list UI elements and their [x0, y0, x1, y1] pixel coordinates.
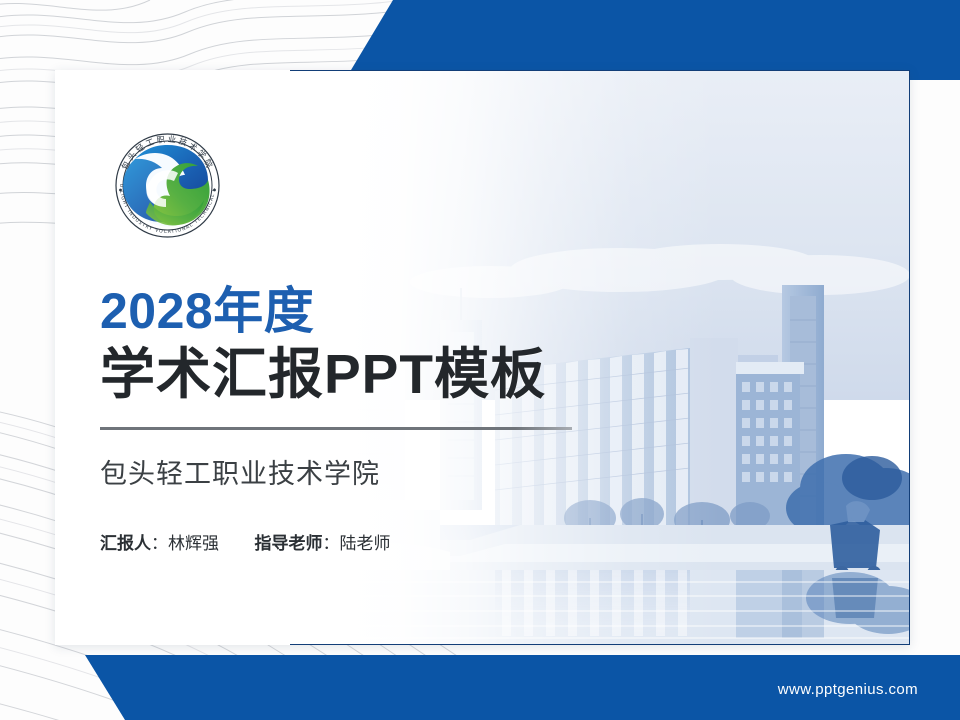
advisor-name: 陆老师 — [339, 534, 390, 553]
presenter-line: 汇报人：林辉强 指导老师：陆老师 — [100, 529, 620, 554]
slide-content-card: 包头轻工职业技术学院 BAOTOU LIGHT INDUSTRY VOCATIO… — [55, 70, 910, 645]
advisor-label: 指导老师 — [254, 534, 322, 553]
presentation-slide: 包头轻工职业技术学院 BAOTOU LIGHT INDUSTRY VOCATIO… — [0, 0, 960, 720]
college-emblem-logo: 包头轻工职业技术学院 BAOTOU LIGHT INDUSTRY VOCATIO… — [100, 118, 235, 253]
slide-title-year: 2028年度 — [100, 285, 620, 338]
presenter-name: 林辉强 — [168, 534, 219, 553]
footer-website-url[interactable]: www.pptgenius.com — [778, 681, 918, 698]
presenter-label: 汇报人 — [100, 534, 151, 553]
advisor-separator: ： — [322, 534, 339, 553]
title-text-block: 2028年度 学术汇报PPT模板 包头轻工职业技术学院 汇报人：林辉强 指导老师… — [100, 285, 620, 554]
presenter-separator: ： — [151, 534, 168, 553]
slide-title-main: 学术汇报PPT模板 — [100, 344, 620, 405]
title-divider-line — [100, 427, 572, 430]
school-name: 包头轻工职业技术学院 — [100, 452, 620, 491]
